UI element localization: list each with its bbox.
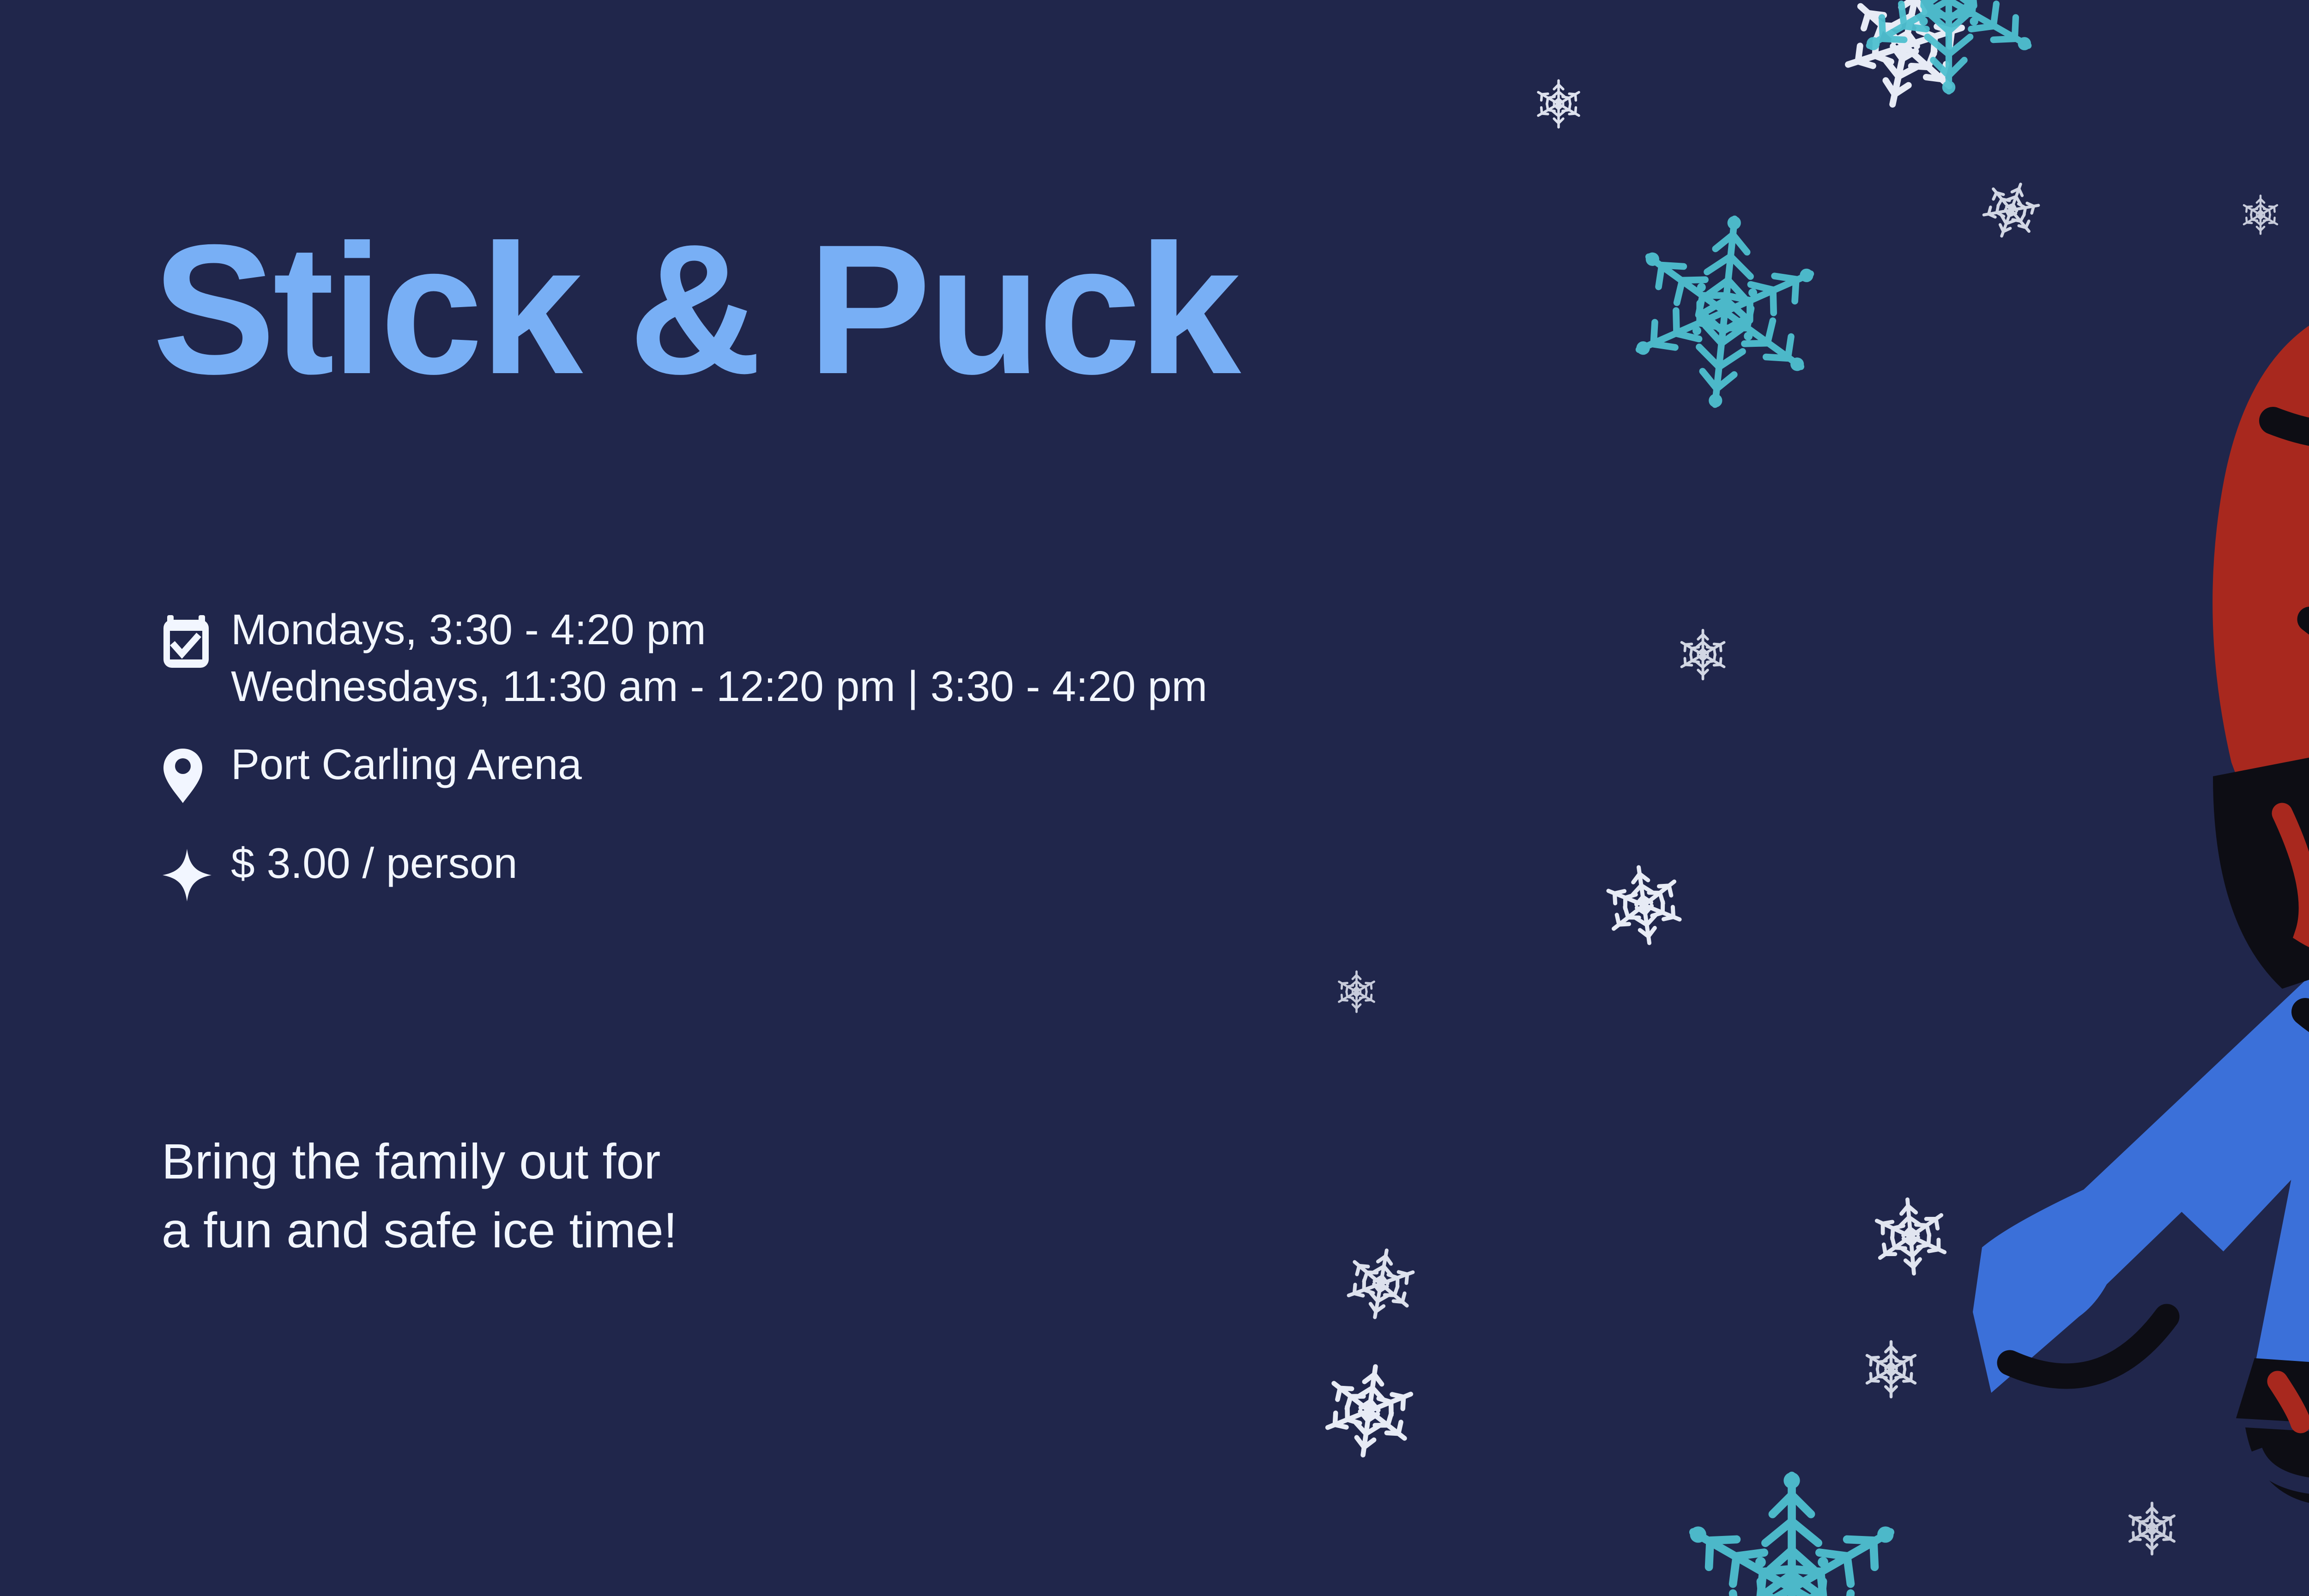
content-column: Stick & Puck Mondays, 3:30 - 4:20 pm Wed… (152, 0, 2092, 1596)
location-line-1: Port Carling Arena (231, 736, 582, 793)
schedule-line-1: Mondays, 3:30 - 4:20 pm (231, 601, 1207, 658)
snowflake-white (2240, 194, 2281, 236)
price-text: $ 3.00 / person (231, 834, 517, 892)
shoulder-seam-left (2273, 384, 2309, 435)
snowflake-white (2124, 1501, 2180, 1556)
glove-lower-line (2282, 813, 2309, 948)
details-list: Mondays, 3:30 - 4:20 pm Wednesdays, 11:3… (162, 600, 1963, 933)
schedule-text: Mondays, 3:30 - 4:20 pm Wednesdays, 11:3… (231, 600, 1207, 715)
hockey-stick-shaft (2190, 698, 2309, 1220)
tagline-line-2: a fun and safe ice time! (162, 1196, 677, 1264)
sparkle-icon (162, 834, 231, 913)
poster-canvas: Stick & Puck Mondays, 3:30 - 4:20 pm Wed… (0, 0, 2309, 1596)
detail-row-location: Port Carling Arena (162, 735, 1963, 814)
detail-row-schedule: Mondays, 3:30 - 4:20 pm Wednesdays, 11:3… (162, 600, 1963, 715)
location-pin-icon (162, 735, 231, 814)
back-leg (2255, 966, 2309, 1377)
tagline-line-1: Bring the family out for (162, 1127, 677, 1196)
price-line-1: $ 3.00 / person (231, 835, 517, 892)
tagline: Bring the family out for a fun and safe … (162, 1127, 677, 1264)
snowflake-white (2297, 462, 2309, 501)
jersey-body (2212, 250, 2309, 979)
glove-lower (2213, 744, 2309, 989)
location-text: Port Carling Arena (231, 735, 582, 793)
back-skate-blade-gap (2255, 1451, 2309, 1487)
back-knee-line (2305, 1012, 2309, 1040)
calendar-check-icon (162, 600, 231, 679)
detail-row-price: $ 3.00 / person (162, 834, 1963, 913)
back-skate-blade-holder (2245, 1427, 2309, 1506)
page-title: Stick & Puck (152, 217, 1238, 402)
back-skate-lace-1 (2278, 1381, 2301, 1423)
back-skate-boot (2236, 1358, 2309, 1427)
schedule-line-2: Wednesdays, 11:30 am - 12:20 pm | 3:30 -… (231, 658, 1207, 715)
